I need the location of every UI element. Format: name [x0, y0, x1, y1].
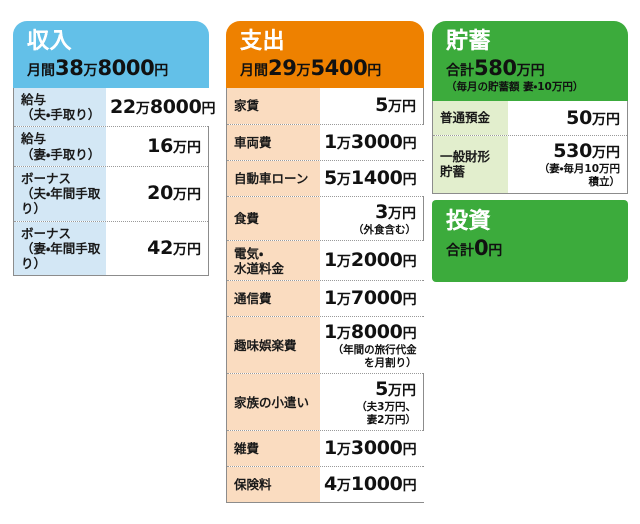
- amount-unit: 万: [136, 101, 150, 117]
- expense-table: 家賃5万円車両費1万3000円自動車ローン5万1400円食費3万円（外食含む）電…: [226, 88, 424, 503]
- row-label: 電気・水道料金: [227, 241, 320, 280]
- table-row: 趣味娯楽費1万8000円（年間の旅行代金を月割り）: [227, 316, 423, 373]
- table-row: ボーナス（夫・年間手取り）20万円: [14, 166, 208, 221]
- amount-number: 1: [324, 287, 337, 309]
- amount-number: 16: [147, 135, 173, 157]
- row-label-line1: 一般財形: [440, 149, 490, 164]
- investment-title: 投資: [446, 210, 628, 234]
- amount-number: 5: [375, 378, 388, 400]
- amount-number: 8000: [351, 321, 403, 343]
- expense-summary-prefix: 月間: [240, 63, 268, 79]
- table-row: ボーナス（妻・年間手取り）42万円: [14, 221, 208, 276]
- savings-summary-unit1: 万: [517, 63, 531, 79]
- amount-unit: 円: [187, 242, 201, 258]
- row-label-line2: （妻・年間手取り）: [21, 241, 106, 272]
- row-value-note: （夫3万円、: [356, 401, 416, 414]
- amount-unit: 万: [337, 172, 351, 188]
- amount-unit: 円: [187, 140, 201, 156]
- amount-unit: 円: [403, 292, 417, 308]
- amount-number: 1: [324, 437, 337, 459]
- amount-unit: 万: [173, 140, 187, 156]
- amount-number: 3000: [351, 437, 403, 459]
- amount-number: 1000: [351, 473, 403, 495]
- amount-number: 1400: [351, 167, 403, 189]
- row-value-note-2: 妻2万円）: [367, 414, 416, 427]
- row-value-amount: 50万円: [566, 107, 620, 130]
- row-label: 一般財形貯蓄: [433, 136, 508, 193]
- row-label-line2: （夫・年間手取り）: [21, 186, 106, 217]
- amount-unit: 円: [402, 383, 416, 399]
- amount-unit: 万: [337, 254, 351, 270]
- row-value-amount: 16万円: [147, 135, 201, 158]
- row-value: 1万7000円: [320, 281, 424, 316]
- amount-unit: 万: [388, 99, 402, 115]
- row-label-line1: 車両費: [234, 135, 272, 150]
- row-value-amount: 22万8000円: [110, 96, 216, 119]
- table-row: 雑費1万3000円: [227, 430, 423, 466]
- row-value-amount: 1万3000円: [324, 437, 417, 460]
- row-label-line1: ボーナス: [21, 171, 106, 186]
- savings-panel: 貯蓄 合計580万円 （毎月の貯蓄額 妻・10万円） 普通預金50万円一般財形貯…: [432, 21, 628, 194]
- row-value: 42万円: [106, 222, 208, 276]
- row-value-amount: 1万7000円: [324, 287, 417, 310]
- investment-header: 投資 合計0円: [432, 200, 628, 282]
- income-summary-amount: 38: [55, 56, 83, 80]
- amount-unit: 万: [337, 478, 351, 494]
- row-value-amount: 1万3000円: [324, 131, 417, 154]
- row-label-line1: 電気・: [234, 246, 284, 261]
- row-value-amount: 5万1400円: [324, 167, 417, 190]
- row-value-amount: 5万円: [375, 378, 416, 401]
- amount-unit: 万: [337, 292, 351, 308]
- expense-summary: 月間29万5400円: [240, 56, 424, 80]
- row-label: 趣味娯楽費: [227, 317, 320, 373]
- row-label: 通信費: [227, 281, 320, 316]
- row-label-line2: （夫・手取り）: [21, 107, 100, 122]
- row-value-amount: 3万円: [375, 201, 416, 224]
- income-summary: 月間38万8000円: [27, 56, 209, 80]
- amount-number: 1: [324, 131, 337, 153]
- row-value-amount: 20万円: [147, 182, 201, 205]
- investment-summary: 合計0円: [446, 236, 628, 260]
- investment-summary-prefix: 合計: [446, 243, 474, 259]
- expense-title: 支出: [240, 30, 424, 54]
- row-value: 530万円（妻・毎月10万円積立）: [508, 136, 627, 193]
- table-row: 給与（妻・手取り）16万円: [14, 126, 208, 166]
- row-label: 給与（夫・手取り）: [14, 88, 106, 127]
- row-label: 保険料: [227, 467, 320, 502]
- expense-summary-unit1: 万: [296, 63, 310, 79]
- table-row: 車両費1万3000円: [227, 124, 423, 160]
- row-value: 20万円: [106, 167, 208, 221]
- savings-title: 貯蓄: [446, 30, 628, 54]
- income-header: 収入 月間38万8000円: [13, 21, 209, 88]
- income-summary-prefix: 月間: [27, 63, 55, 79]
- amount-unit: 万: [173, 187, 187, 203]
- row-label-line1: 趣味娯楽費: [234, 338, 297, 353]
- amount-unit: 万: [337, 136, 351, 152]
- amount-unit: 万: [388, 383, 402, 399]
- amount-number: 3000: [351, 131, 403, 153]
- table-row: 食費3万円（外食含む）: [227, 196, 423, 240]
- amount-unit: 円: [403, 136, 417, 152]
- row-label: ボーナス（夫・年間手取り）: [14, 167, 106, 221]
- investment-summary-unit2: 円: [488, 243, 502, 259]
- row-label-line1: 通信費: [234, 291, 272, 306]
- row-label-line1: 自動車ローン: [234, 171, 308, 186]
- row-label-line1: 食費: [234, 211, 259, 226]
- row-value-amount: 5万円: [375, 94, 416, 117]
- amount-unit: 円: [403, 442, 417, 458]
- table-row: 普通預金50万円: [433, 101, 627, 135]
- savings-summary-amount: 580: [474, 56, 517, 80]
- amount-unit: 円: [606, 145, 620, 161]
- row-label-line1: 給与: [21, 92, 100, 107]
- expense-summary-amount2: 5400: [310, 56, 367, 80]
- row-value-note: （年間の旅行代金: [333, 344, 417, 357]
- row-value: 16万円: [106, 127, 208, 166]
- row-value-amount: 42万円: [147, 237, 201, 260]
- table-row: 家賃5万円: [227, 88, 423, 124]
- savings-header: 貯蓄 合計580万円 （毎月の貯蓄額 妻・10万円）: [432, 21, 628, 101]
- row-label: 給与（妻・手取り）: [14, 127, 106, 166]
- row-label: 車両費: [227, 125, 320, 160]
- row-label: 雑費: [227, 431, 320, 466]
- amount-number: 8000: [150, 96, 202, 118]
- savings-summary: 合計580万円: [446, 56, 628, 80]
- amount-unit: 円: [403, 478, 417, 494]
- row-value-note-2: 積立）: [589, 176, 621, 189]
- amount-unit: 万: [337, 326, 351, 342]
- amount-number: 20: [147, 182, 173, 204]
- income-title: 収入: [27, 30, 209, 54]
- income-summary-amount2: 8000: [97, 56, 154, 80]
- row-value-amount: 4万1000円: [324, 473, 417, 496]
- income-panel: 収入 月間38万8000円 給与（夫・手取り）22万8000円給与（妻・手取り）…: [13, 21, 209, 276]
- amount-number: 3: [375, 201, 388, 223]
- amount-unit: 円: [202, 101, 216, 117]
- amount-number: 50: [566, 107, 592, 129]
- table-row: 電気・水道料金1万2000円: [227, 240, 423, 280]
- table-row: 自動車ローン5万1400円: [227, 160, 423, 196]
- investment-panel: 投資 合計0円: [432, 200, 628, 282]
- expense-header: 支出 月間29万5400円: [226, 21, 424, 88]
- amount-unit: 万: [592, 112, 606, 128]
- amount-unit: 円: [402, 99, 416, 115]
- table-row: 通信費1万7000円: [227, 280, 423, 316]
- amount-unit: 円: [402, 206, 416, 222]
- row-label: ボーナス（妻・年間手取り）: [14, 222, 106, 276]
- amount-number: 530: [553, 140, 592, 162]
- amount-unit: 万: [173, 242, 187, 258]
- amount-number: 1: [324, 249, 337, 271]
- expense-summary-amount: 29: [268, 56, 296, 80]
- row-label-line1: 家賃: [234, 98, 259, 113]
- savings-table: 普通預金50万円一般財形貯蓄530万円（妻・毎月10万円積立）: [432, 101, 628, 194]
- table-row: 保険料4万1000円: [227, 466, 423, 502]
- row-value: 22万8000円: [106, 88, 223, 127]
- row-value: 5万円（夫3万円、妻2万円）: [320, 374, 423, 430]
- row-value: 1万8000円（年間の旅行代金を月割り）: [320, 317, 424, 373]
- amount-number: 22: [110, 96, 136, 118]
- row-value-amount: 1万8000円: [324, 321, 417, 344]
- row-label-line2: 水道料金: [234, 261, 284, 276]
- row-label-line2: 貯蓄: [440, 164, 490, 179]
- row-value-amount: 1万2000円: [324, 249, 417, 272]
- row-label: 普通預金: [433, 101, 508, 135]
- amount-number: 5: [324, 167, 337, 189]
- row-value: 3万円（外食含む）: [320, 197, 423, 240]
- amount-unit: 円: [403, 172, 417, 188]
- savings-note: （毎月の貯蓄額 妻・10万円）: [446, 81, 628, 93]
- row-label-line1: 家族の小遣い: [234, 395, 309, 410]
- row-value: 1万3000円: [320, 431, 424, 466]
- amount-unit: 円: [606, 112, 620, 128]
- income-summary-unit1: 万: [83, 63, 97, 79]
- row-label-line2: （妻・手取り）: [21, 147, 100, 162]
- amount-number: 4: [324, 473, 337, 495]
- row-label-line1: ボーナス: [21, 226, 106, 241]
- savings-summary-unit2: 円: [531, 63, 545, 79]
- amount-number: 2000: [351, 249, 403, 271]
- row-label: 自動車ローン: [227, 161, 320, 196]
- investment-summary-amount: 0: [474, 236, 488, 260]
- amount-unit: 円: [403, 326, 417, 342]
- row-label-line1: 普通預金: [440, 110, 490, 125]
- income-summary-unit2: 円: [154, 63, 168, 79]
- row-value: 5万1400円: [320, 161, 424, 196]
- row-value-amount: 530万円: [553, 140, 620, 163]
- row-value: 50万円: [508, 101, 627, 135]
- row-value: 1万3000円: [320, 125, 424, 160]
- table-row: 給与（夫・手取り）22万8000円: [14, 88, 208, 127]
- amount-number: 1: [324, 321, 337, 343]
- amount-unit: 円: [403, 254, 417, 270]
- table-row: 家族の小遣い5万円（夫3万円、妻2万円）: [227, 373, 423, 430]
- table-row: 一般財形貯蓄530万円（妻・毎月10万円積立）: [433, 135, 627, 193]
- amount-number: 5: [375, 94, 388, 116]
- amount-number: 42: [147, 237, 173, 259]
- row-label-line1: 保険料: [234, 477, 272, 492]
- amount-number: 7000: [351, 287, 403, 309]
- expense-summary-unit2: 円: [367, 63, 381, 79]
- row-value-note-2: を月割り）: [364, 357, 417, 370]
- row-label: 家賃: [227, 88, 320, 124]
- row-value: 5万円: [320, 88, 423, 124]
- row-label: 家族の小遣い: [227, 374, 320, 430]
- row-value: 4万1000円: [320, 467, 424, 502]
- row-label: 食費: [227, 197, 320, 240]
- income-table: 給与（夫・手取り）22万8000円給与（妻・手取り）16万円ボーナス（夫・年間手…: [13, 88, 209, 277]
- row-value: 1万2000円: [320, 241, 424, 280]
- expense-panel: 支出 月間29万5400円 家賃5万円車両費1万3000円自動車ローン5万140…: [226, 21, 424, 503]
- savings-summary-prefix: 合計: [446, 63, 474, 79]
- amount-unit: 万: [388, 206, 402, 222]
- amount-unit: 万: [337, 442, 351, 458]
- row-label-line1: 給与: [21, 131, 100, 146]
- row-value-note: （外食含む）: [353, 224, 416, 237]
- amount-unit: 万: [592, 145, 606, 161]
- row-label-line1: 雑費: [234, 441, 259, 456]
- amount-unit: 円: [187, 187, 201, 203]
- row-value-note: （妻・毎月10万円: [539, 163, 620, 176]
